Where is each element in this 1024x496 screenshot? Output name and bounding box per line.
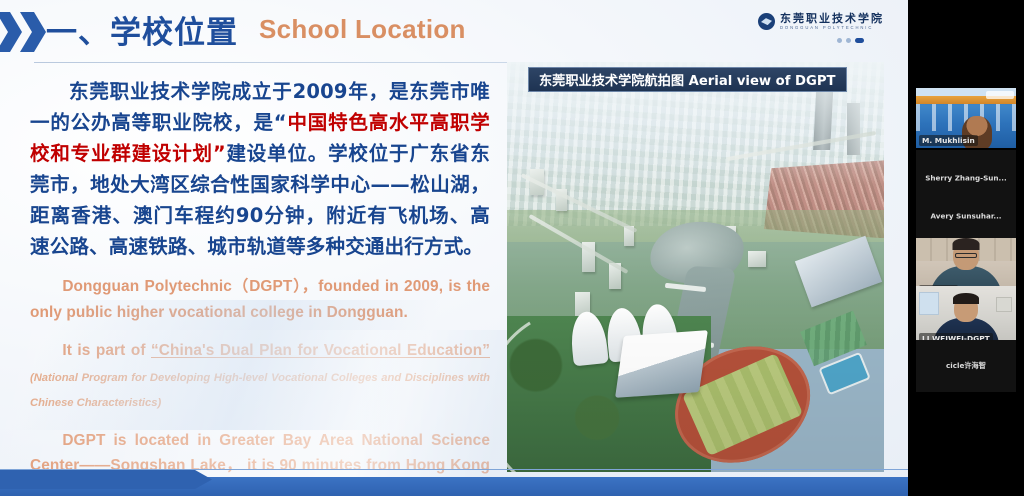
photo-caption: 东莞职业技术学院航拍图 Aerial view of DGPT xyxy=(528,67,847,92)
participant-tile[interactable]: M. Mukhlisin xyxy=(916,88,1016,148)
page-title-en: School Location xyxy=(259,14,466,45)
page-title-cn: 一、学校位置 xyxy=(46,7,238,52)
participant-name: Sherry Zhang-Sun... xyxy=(916,174,1016,183)
footer-tab-shape xyxy=(0,470,212,489)
participant-name: Avery Sunsuhar... xyxy=(916,212,1016,221)
slide-footer xyxy=(0,470,908,496)
chevron-right-icon xyxy=(20,12,46,52)
cn-quote-close: ” xyxy=(213,142,226,165)
slide-text-column: 东莞职业技术学院成立于2009年，是东莞市唯一的公办高等职业院校，是“中国特色高… xyxy=(30,76,490,496)
photo-artwork xyxy=(507,62,884,472)
paragraph-english-2: It is part of “China's Dual Plan for Voc… xyxy=(30,338,490,415)
logo-name-cn: 东莞职业技术学院 xyxy=(780,13,884,24)
participant-tile[interactable]: LI WEIWEI-DGPT xyxy=(916,286,1016,346)
participant-tile[interactable]: Avery Sunsuhar... xyxy=(916,188,1016,244)
participant-name: cicle许海智 xyxy=(916,361,1016,371)
en2-program-link: “China's Dual Plan for Vocational Educat… xyxy=(151,342,490,359)
participant-tile[interactable]: cicle许海智 xyxy=(916,340,1016,392)
aerial-campus-photo: 东莞职业技术学院航拍图 Aerial view of DGPT xyxy=(507,62,884,472)
paragraph-english-1: Dongguan Polytechnic（DGPT），founded in 20… xyxy=(30,274,490,325)
presentation-slide: 一、学校位置 School Location 东莞职业技术学院 DONGGUAN… xyxy=(0,0,908,496)
logo-text: 东莞职业技术学院 DONGGUAN POLYTECHNIC xyxy=(780,13,884,30)
cn-quote-open: “ xyxy=(274,111,287,134)
participant-video-rail[interactable]: M. Mukhlisin Sherry Zhang-Sun... Avery S… xyxy=(908,0,1024,496)
en2-lead: It is part of xyxy=(62,342,151,359)
slide-header: 一、学校位置 School Location 东莞职业技术学院 DONGGUAN… xyxy=(0,0,908,62)
logo-dots-decoration xyxy=(837,38,864,43)
participant-name: M. Mukhlisin xyxy=(919,135,978,146)
paragraph-chinese: 东莞职业技术学院成立于2009年，是东莞市唯一的公办高等职业院校，是“中国特色高… xyxy=(30,76,490,262)
en2-note: (National Program for Developing High-le… xyxy=(30,372,490,410)
chevron-right-icon xyxy=(0,12,22,52)
university-crest-icon xyxy=(758,13,775,30)
meeting-screen: 一、学校位置 School Location 东莞职业技术学院 DONGGUAN… xyxy=(0,0,1024,496)
university-logo: 东莞职业技术学院 DONGGUAN POLYTECHNIC xyxy=(758,13,884,30)
logo-name-en: DONGGUAN POLYTECHNIC xyxy=(780,26,884,30)
